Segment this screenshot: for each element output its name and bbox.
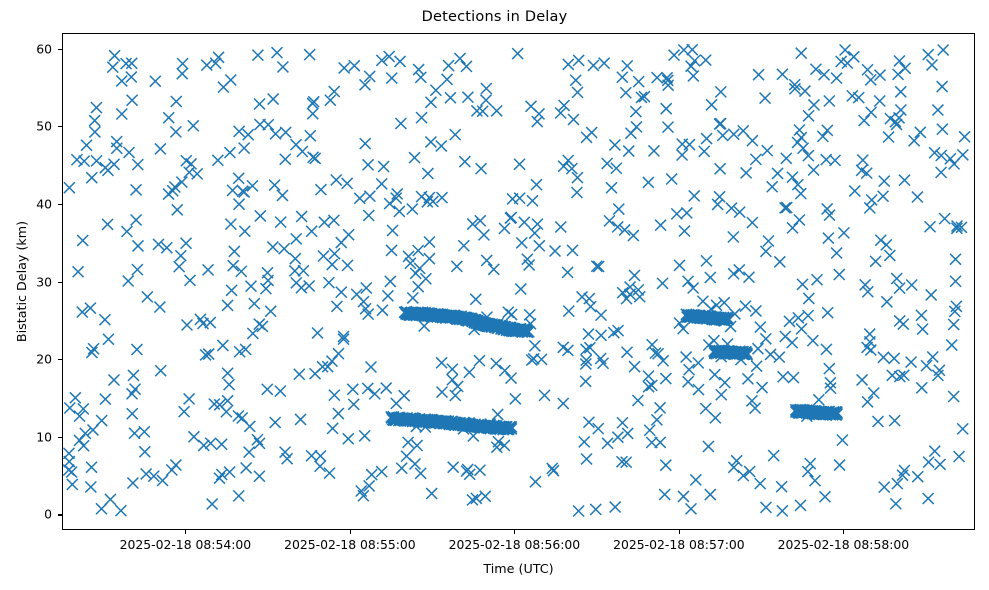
y-tick-label: 0	[52, 507, 60, 522]
x-tick-mark	[514, 530, 515, 534]
y-tick-label: 30	[52, 274, 68, 289]
x-tick-label: 2025-02-18 08:54:00	[120, 537, 252, 552]
x-tick-mark	[185, 530, 186, 534]
y-tick-label: 50	[52, 119, 68, 134]
x-tick-mark	[350, 530, 351, 534]
scatter-data-layer	[63, 34, 974, 529]
x-tick-label: 2025-02-18 08:55:00	[284, 537, 416, 552]
x-tick-label: 2025-02-18 08:58:00	[778, 537, 910, 552]
page-title: Detections in Delay	[0, 9, 989, 25]
y-axis-label: Bistatic Delay (km)	[14, 33, 29, 530]
y-tick-label: 60	[52, 41, 68, 56]
y-tick-label: 10	[52, 429, 68, 444]
plot-area	[62, 33, 975, 530]
x-axis-label: Time (UTC)	[62, 561, 975, 576]
x-tick-mark	[679, 530, 680, 534]
x-tick-mark	[843, 530, 844, 534]
y-tick-label: 20	[52, 352, 68, 367]
x-tick-label: 2025-02-18 08:56:00	[449, 537, 581, 552]
matplotlib-figure: Detections in Delay 2025-02-18 08:54:002…	[0, 0, 989, 590]
x-tick-label: 2025-02-18 08:57:00	[613, 537, 745, 552]
y-tick-label: 40	[52, 196, 68, 211]
